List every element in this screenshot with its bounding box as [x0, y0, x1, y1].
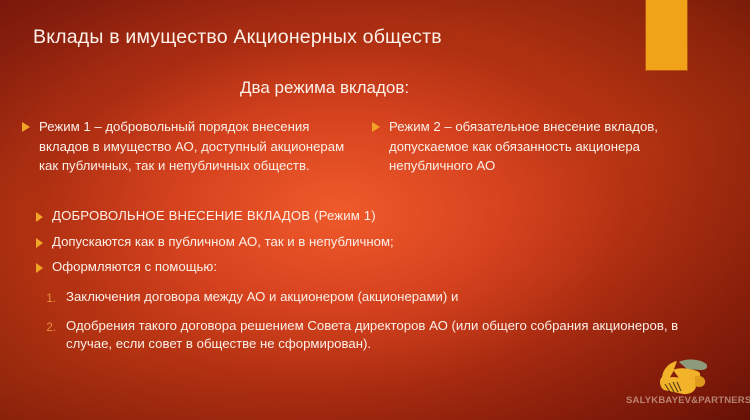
triangle-right-icon [372, 122, 380, 132]
accent-yellow-block [646, 0, 687, 70]
company-logo: SALYKBAYEV&PARTNERS [626, 356, 744, 414]
list-item: Оформляются с помощью: [36, 259, 676, 274]
regime-1-column: Режим 1 – добровольный порядок внесения … [22, 117, 352, 176]
list-item: Режим 1 – добровольный порядок внесения … [22, 117, 352, 176]
regime-2-text: Режим 2 – обязательное внесение вкладов,… [389, 117, 717, 176]
list-item: 1. Заключения договора между АО и акцион… [34, 288, 679, 308]
triangle-right-icon [36, 263, 43, 273]
list-item: Режим 2 – обязательное внесение вкладов,… [372, 117, 717, 176]
list-item-label: Допускаются как в публичном АО, так и в … [52, 234, 676, 249]
handshake-icon [649, 356, 721, 396]
triangle-right-icon [36, 238, 43, 248]
list-item-label: ДОБРОВОЛЬНОЕ ВНЕСЕНИЕ ВКЛАДОВ (Режим 1) [52, 208, 676, 223]
list-item-label: Одобрения такого договора решением Совет… [66, 317, 679, 353]
list-item: 2. Одобрения такого договора решением Со… [34, 317, 679, 353]
list-item-label: Оформляются с помощью: [52, 259, 676, 274]
regime-2-column: Режим 2 – обязательное внесение вкладов,… [372, 117, 717, 176]
list-item: ДОБРОВОЛЬНОЕ ВНЕСЕНИЕ ВКЛАДОВ (Режим 1) [36, 208, 676, 223]
numbered-requirements-list: 1. Заключения договора между АО и акцион… [34, 288, 679, 362]
page-title: Вклады в имущество Акционерных обществ [33, 26, 442, 49]
regime-1-text: Режим 1 – добровольный порядок внесения … [39, 117, 352, 176]
list-item-number: 1. [34, 288, 56, 308]
list-item-number: 2. [34, 317, 56, 337]
triangle-right-icon [36, 212, 43, 222]
company-logo-text: SALYKBAYEV&PARTNERS [626, 395, 744, 406]
slide-subtitle: Два режима вкладов: [240, 78, 409, 98]
triangle-right-icon [22, 122, 30, 132]
list-item-label: Заключения договора между АО и акционеро… [66, 288, 679, 306]
list-item: Допускаются как в публичном АО, так и в … [36, 234, 676, 249]
presentation-slide: Вклады в имущество Акционерных обществ Д… [0, 0, 750, 420]
voluntary-contribution-list: ДОБРОВОЛЬНОЕ ВНЕСЕНИЕ ВКЛАДОВ (Режим 1) … [36, 208, 676, 285]
